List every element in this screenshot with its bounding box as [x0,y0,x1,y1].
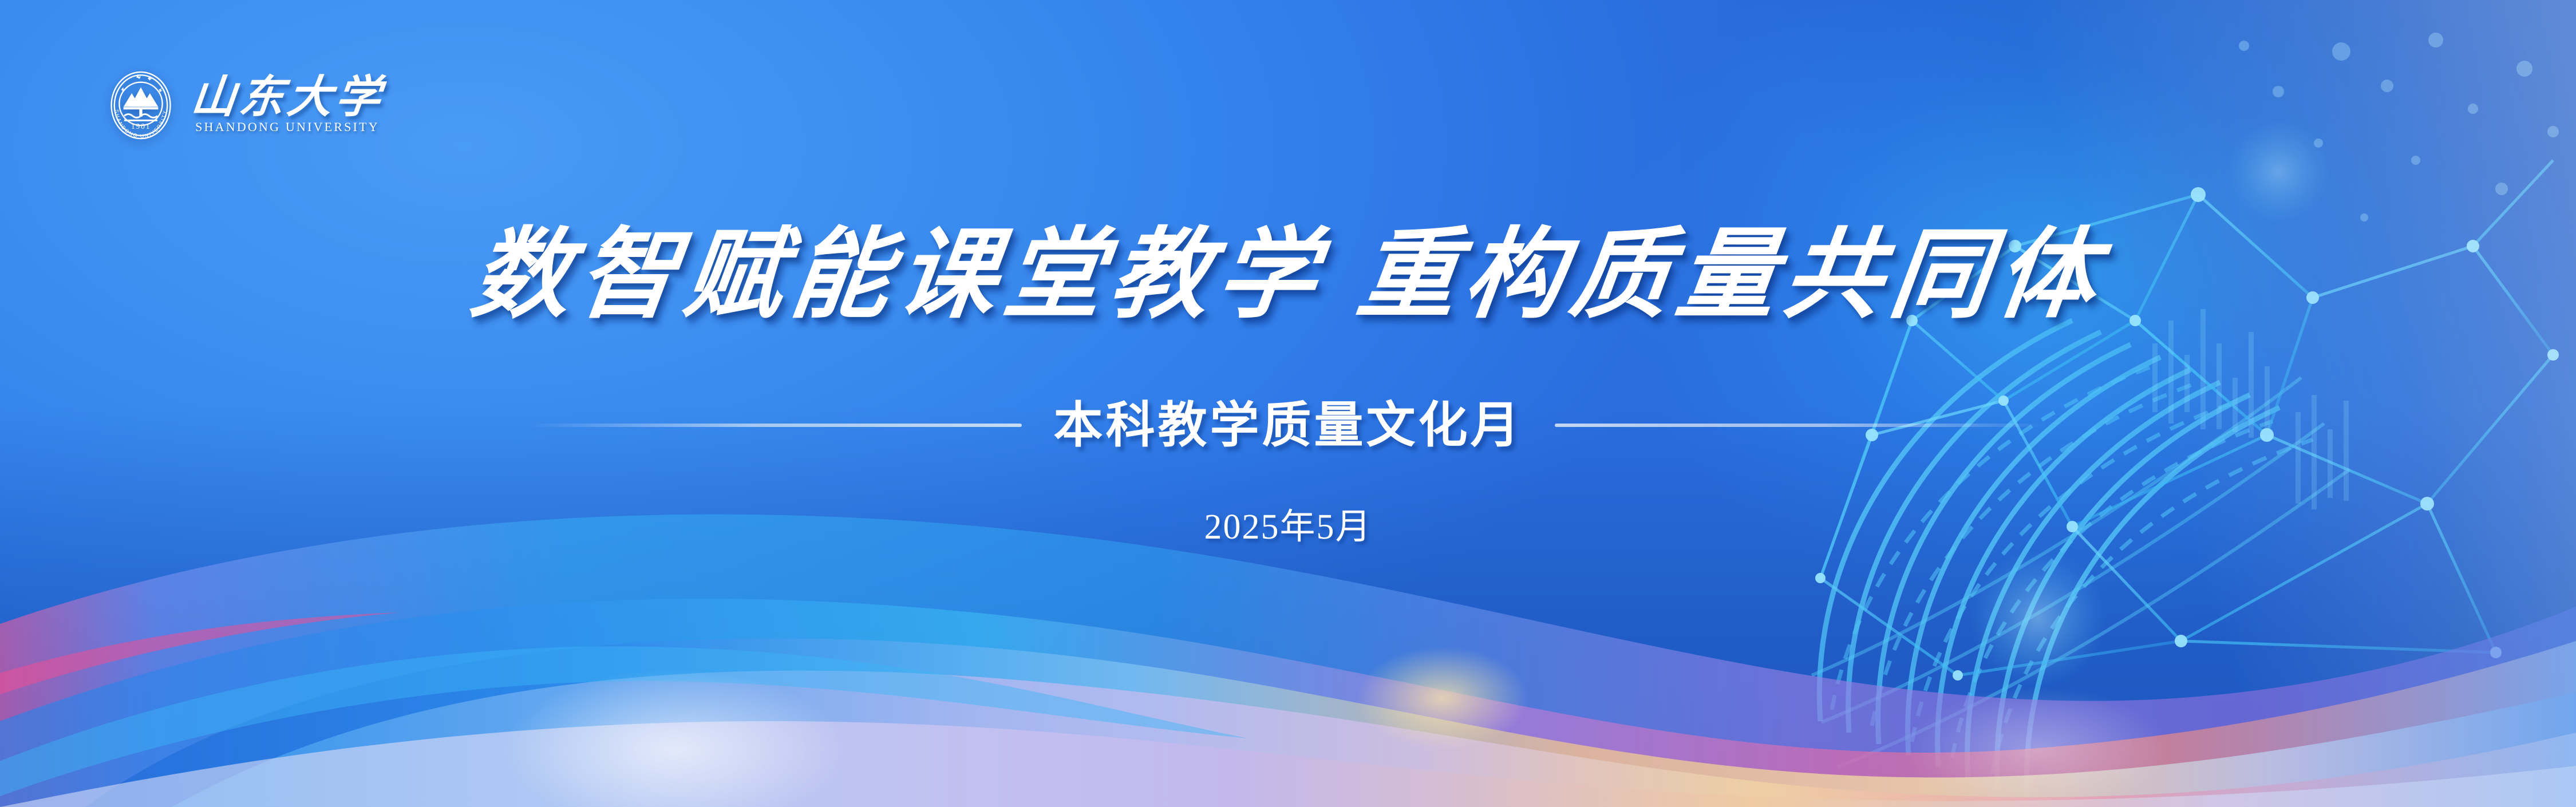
event-banner: 1901 SHANDONG UNIVERSITY 山东大学 SHANDONG U… [0,0,2576,807]
iridescent-wave-ribbons [0,452,2576,807]
university-seal-icon: 1901 SHANDONG UNIVERSITY [103,68,179,143]
subtitle: 本科教学质量文化月 [1054,401,1523,450]
logo-name-cn: 山东大学 [189,76,386,119]
main-title-part1: 数智赋能课堂教学 [465,221,1330,330]
event-date: 2025年5月 [0,509,2576,545]
logo-wordmark: 山东大学 SHANDONG UNIVERSITY [191,76,384,135]
main-title-part2: 重构质量共同体 [1352,221,2110,330]
shandong-university-logo: 1901 SHANDONG UNIVERSITY 山东大学 SHANDONG U… [103,68,384,143]
main-title: 数智赋能课堂教学重构质量共同体 [0,227,2576,325]
logo-name-en: SHANDONG UNIVERSITY [195,120,380,134]
subtitle-rule-left [530,424,1022,427]
svg-text:1901: 1901 [131,122,151,130]
subtitle-rule-right [1555,424,2047,427]
subtitle-row: 本科教学质量文化月 [0,401,2576,450]
